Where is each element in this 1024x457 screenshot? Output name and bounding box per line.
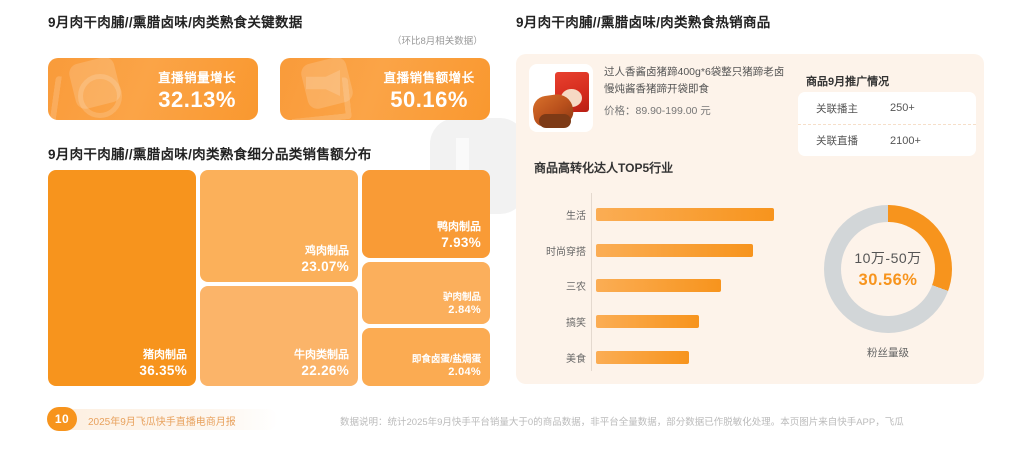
kpi-value: 32.13%	[136, 87, 258, 113]
treemap-tile-label: 牛肉类制品	[294, 349, 349, 362]
bar-category-label: 三农	[534, 278, 596, 293]
bar-category-label: 时尚穿搭	[534, 243, 596, 258]
treemap-tile-value: 2.84%	[443, 304, 481, 317]
donut-value: 30.56%	[859, 271, 918, 290]
promotion-key: 关联直播	[816, 133, 890, 148]
bar-chart-row: 生活	[534, 197, 774, 233]
kpi-section-title: 9月肉干肉脯//熏腊卤味/肉类熟食关键数据	[48, 11, 303, 31]
product-info: 过人香酱卤猪蹄400g*6袋整只猪蹄老卤慢炖酱香猪蹄开袋即食 价格：89.90-…	[604, 64, 794, 118]
treemap-tile-pork: 猪肉制品 36.35%	[48, 170, 196, 386]
treemap-tile-duck: 鸭肉制品 7.93%	[362, 170, 490, 258]
bar-chart-row: 时尚穿搭	[534, 233, 774, 269]
treemap-tile-label: 即食卤蛋/盐焗蛋	[412, 354, 481, 366]
treemap-tile-eggs: 即食卤蛋/盐焗蛋 2.04%	[362, 328, 490, 386]
bar-fill	[596, 244, 753, 257]
product-name: 过人香酱卤猪蹄400g*6袋整只猪蹄老卤慢炖酱香猪蹄开袋即食	[604, 64, 794, 99]
product-price: 价格：89.90-199.00 元	[604, 103, 794, 118]
bar-fill	[596, 279, 721, 292]
coin-circle-icon	[78, 74, 122, 118]
bar-track	[596, 208, 774, 221]
promotion-table: 关联播主 250+ 关联直播 2100+	[798, 92, 976, 156]
promotion-value: 250+	[890, 102, 915, 114]
treemap-tile-value: 2.04%	[412, 366, 481, 379]
bar-fill	[596, 315, 699, 328]
top5-industry-bar-chart: 生活 时尚穿搭 三农 搞笑 美食	[534, 193, 774, 371]
page-number-badge: 10	[47, 407, 77, 431]
treemap-tile-beef: 牛肉类制品 22.26%	[200, 286, 358, 386]
bar-fill	[596, 208, 774, 221]
treemap-tile-label: 驴肉制品	[443, 292, 481, 304]
table-row: 关联直播 2100+	[798, 124, 976, 156]
treemap-section-title: 9月肉干肉脯//熏腊卤味/肉类熟食细分品类销售额分布	[48, 143, 372, 163]
bar-track	[596, 244, 774, 257]
treemap-tile-value: 23.07%	[301, 259, 349, 275]
treemap-tile-donkey: 驴肉制品 2.84%	[362, 262, 490, 324]
report-page: 快手版 9月肉干肉脯//熏腊卤味/肉类熟食关键数据 （环比8月相关数据） 直播销…	[0, 0, 1024, 457]
promotion-title: 商品9月推广情况	[806, 73, 889, 89]
promotion-value: 2100+	[890, 135, 921, 147]
bar-category-label: 搞笑	[534, 314, 596, 329]
promotion-key: 关联播主	[816, 101, 890, 116]
kpi-label: 直播销售额增长	[368, 67, 490, 86]
treemap-tile-chicken: 鸡肉制品 23.07%	[200, 170, 358, 282]
treemap-tile-value: 36.35%	[139, 363, 187, 379]
donut-center: 10万-50万 30.56%	[841, 222, 935, 316]
bar-track	[596, 351, 774, 364]
bar-category-label: 生活	[534, 207, 596, 222]
treemap-tile-label: 猪肉制品	[139, 349, 187, 362]
kpi-section-note: （环比8月相关数据）	[392, 33, 483, 47]
kpi-card-sales-volume: 直播销量增长 32.13%	[48, 58, 258, 120]
kpi-value: 50.16%	[368, 87, 490, 113]
bar-chart-row: 三农	[534, 268, 774, 304]
treemap-tile-value: 22.26%	[294, 363, 349, 379]
donut-label: 10万-50万	[854, 248, 921, 268]
category-treemap-chart: 猪肉制品 36.35% 鸡肉制品 23.07% 牛肉类制品 22.26% 鸭肉制…	[48, 170, 490, 386]
kpi-card-sales-amount: 直播销售额增长 50.16%	[280, 58, 490, 120]
product-plate-icon	[539, 114, 571, 128]
bar-chart-row: 美食	[534, 339, 774, 375]
hot-product-section-title: 9月肉干肉脯//熏腊卤味/肉类熟食热销商品	[516, 11, 771, 31]
table-row: 关联播主 250+	[798, 92, 976, 124]
kpi-label: 直播销量增长	[136, 67, 258, 86]
bar-track	[596, 315, 774, 328]
product-thumbnail	[529, 64, 593, 132]
bar-fill	[596, 351, 689, 364]
bar-category-label: 美食	[534, 350, 596, 365]
report-name: 2025年9月飞瓜快手直播电商月报	[88, 413, 236, 428]
footer-data-note: 数据说明：统计2025年9月快手平台销量大于0的商品数据，非平台全量数据，部分数…	[340, 414, 904, 428]
donut-caption: 粉丝量级	[814, 345, 962, 360]
bar-chart-row: 搞笑	[534, 304, 774, 340]
bar-chart-title: 商品高转化达人TOP5行业	[534, 159, 673, 176]
bar-track	[596, 279, 774, 292]
fan-level-donut-chart: 10万-50万 30.56% 粉丝量级	[814, 205, 962, 375]
treemap-tile-label: 鸭肉制品	[437, 221, 481, 234]
treemap-tile-label: 鸡肉制品	[301, 245, 349, 258]
treemap-tile-value: 7.93%	[437, 235, 481, 251]
